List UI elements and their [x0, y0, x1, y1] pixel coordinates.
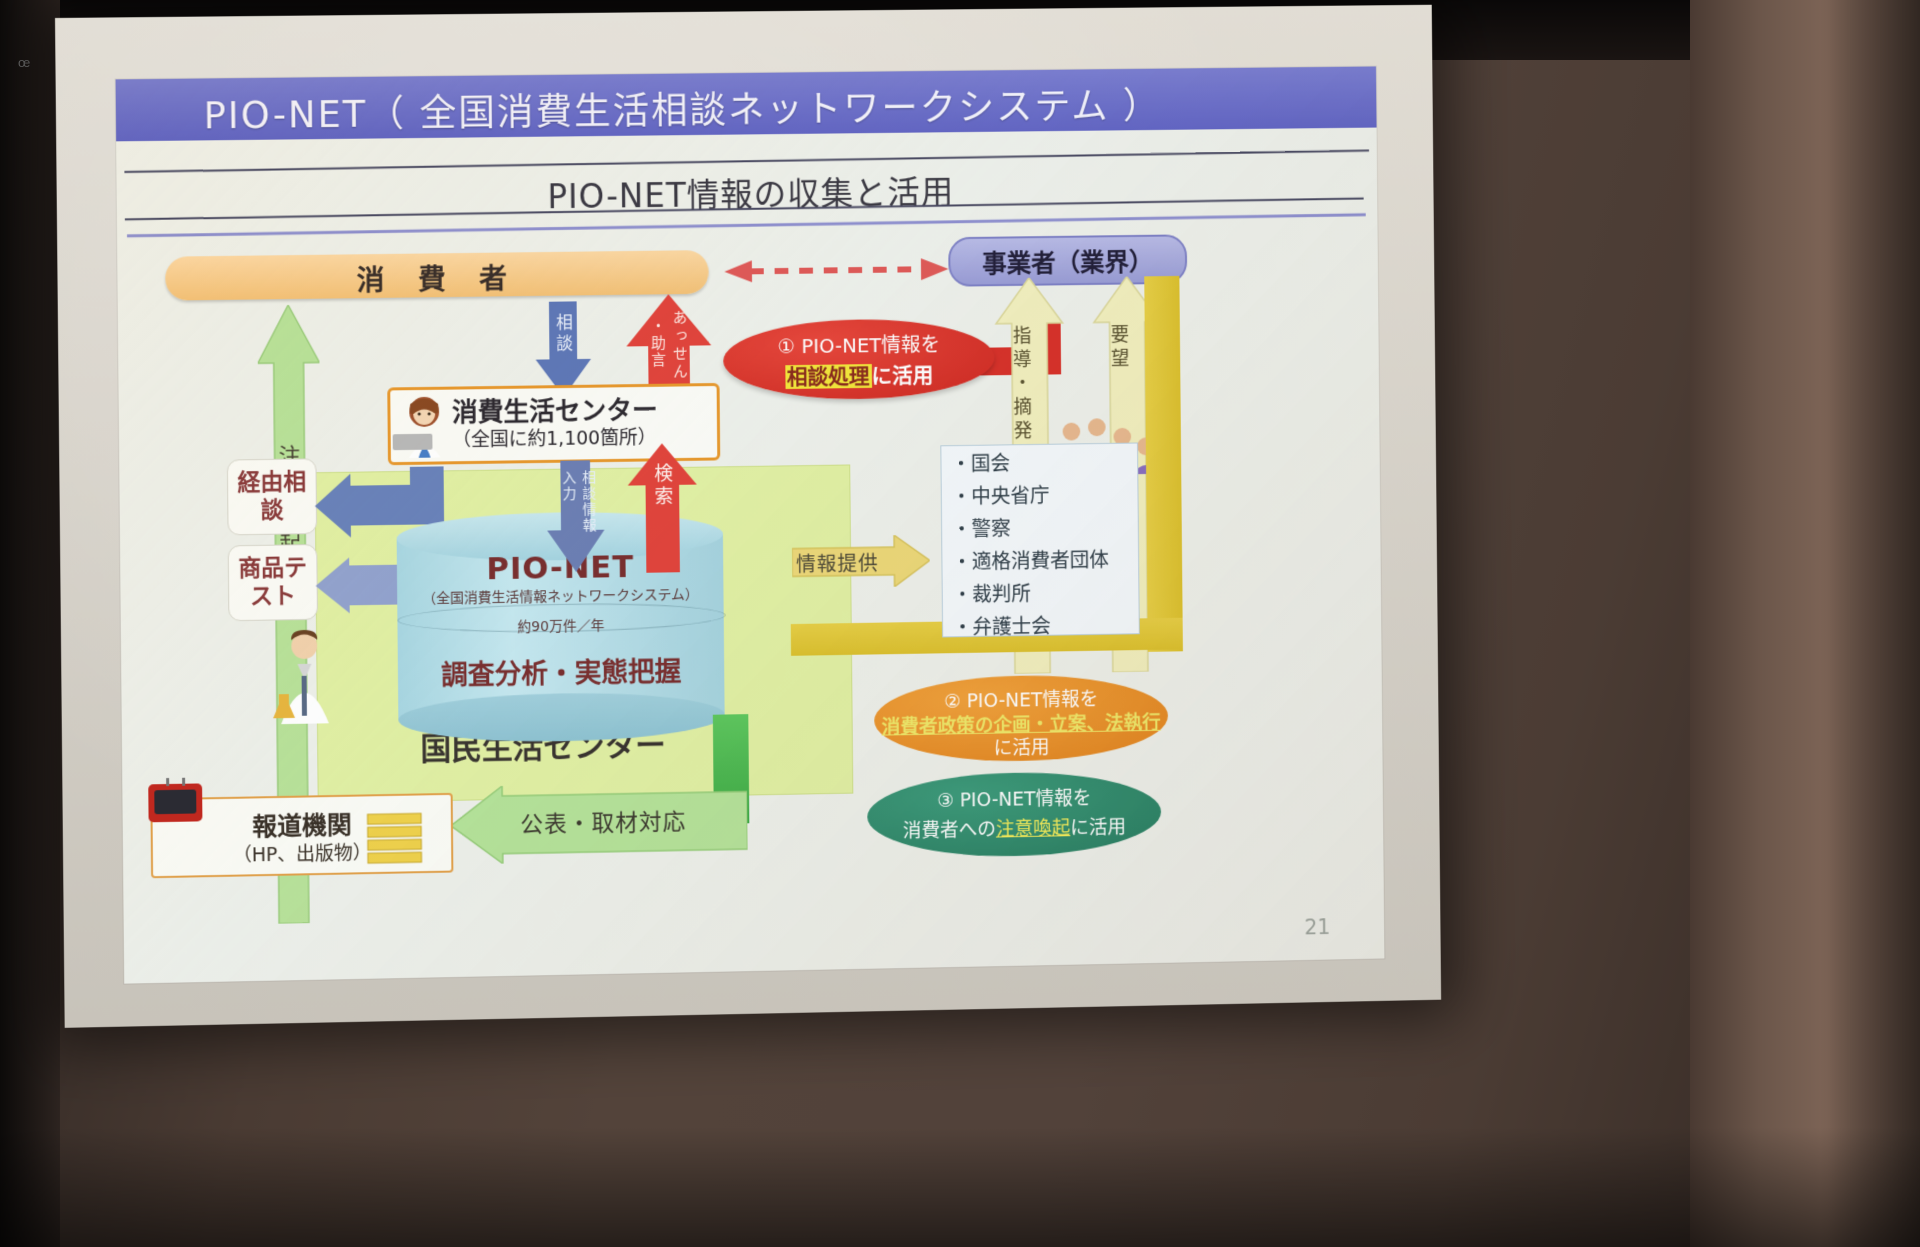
usage-3-line2: 消費者への注意喚起に活用 [867, 812, 1161, 844]
usage-2-ellipse: ② PIO-NET情報を 消費者政策の企画・立案、法執行 に活用 [874, 673, 1168, 763]
nyuryoku-label: 入力 [558, 470, 578, 502]
usage-3-post: に活用 [1070, 816, 1126, 839]
kensaku-label: 検索 [649, 463, 676, 509]
shohin-test-box: 商品テスト [228, 544, 318, 621]
recipient-item: ・国会 [941, 444, 1137, 479]
keiyu-soudan-box: 経由相談 [227, 458, 317, 535]
slide-title-bar: PIO-NET（ 全国消費生活相談ネットワークシステム ） [116, 66, 1377, 141]
scientist-avatar-icon [270, 627, 337, 729]
slide-title: PIO-NET（ 全国消費生活相談ネットワークシステム ） [203, 76, 1161, 140]
usage-1-line2: 相談処理に活用 [723, 358, 994, 391]
page-number: 21 [1304, 915, 1330, 939]
dashed-double-arrow-icon [722, 257, 950, 284]
kouhyou-shuzai-label: 公表・取材対応 [520, 803, 686, 840]
usage-3-highlight: 注意喚起 [996, 817, 1071, 840]
usage-1-tail: に活用 [871, 363, 933, 388]
usage-3-ellipse: ③ PIO-NET情報を 消費者への注意喚起に活用 [867, 770, 1162, 859]
usage-1-highlight: 相談処理 [785, 364, 872, 389]
usage-3-pre: 消費者への [903, 819, 996, 843]
usage-1-ellipse: ① PIO-NET情報を 相談処理に活用 [723, 318, 995, 401]
operator-avatar-icon [398, 394, 450, 463]
soudan-label: 相談 [550, 313, 575, 355]
jouhou-teikyou-label: 情報提供 [796, 547, 879, 577]
usage-1-line1: ① PIO-NET情報を [723, 328, 994, 360]
database-analysis: 調査分析・実態把握 [398, 649, 725, 693]
consumer-bar: 消 費 者 [165, 250, 709, 301]
usage-2-line3: に活用 [874, 731, 1168, 763]
recipient-item: ・警察 [942, 509, 1138, 545]
recipients-list: ・国会 ・中央省庁 ・警察 ・適格消費者団体 ・裁判所 ・弁護士会 [940, 443, 1139, 638]
consumer-center-count: （全国に約1,100箇所） [452, 423, 656, 453]
wall-label: œ [18, 55, 42, 73]
recipient-item: ・適格消費者団体 [942, 541, 1138, 577]
media-box: 報道機関 （HP、出版物） [150, 793, 453, 878]
business-operator-label: 事業者（業界） [950, 242, 1185, 281]
slide: PIO-NET（ 全国消費生活相談ネットワークシステム ） PIO-NET情報の… [116, 66, 1385, 983]
shidou-tekihatsu-label: 指導・摘発 [1008, 325, 1036, 444]
usage-3-line1: ③ PIO-NET情報を [867, 782, 1161, 814]
assen-label: あっせん [670, 310, 691, 382]
left-wall [0, 0, 60, 1247]
jogen-label: ・助言 [648, 318, 669, 369]
recipient-item: ・裁判所 [943, 574, 1139, 610]
projection-screen: PIO-NET（ 全国消費生活相談ネットワークシステム ） PIO-NET情報の… [55, 5, 1441, 1028]
shohin-test-label: 商品テスト [229, 554, 317, 611]
books-icon [363, 809, 427, 871]
yellow-band-vertical [1144, 276, 1183, 652]
recipient-item: ・中央省庁 [942, 476, 1138, 512]
keiyu-soudan-label: 経由相談 [228, 468, 316, 525]
slide-subtitle: PIO-NET情報の収集と活用 [116, 161, 1377, 223]
laptop-icon [393, 434, 433, 451]
right-wall-shadow [1820, 0, 1920, 1247]
soudan-jouhou-label: 相談情報 [578, 470, 598, 534]
floor-shadow [0, 1127, 1920, 1247]
recipient-item: ・弁護士会 [943, 607, 1139, 643]
youbou-label: 要望 [1106, 324, 1133, 372]
